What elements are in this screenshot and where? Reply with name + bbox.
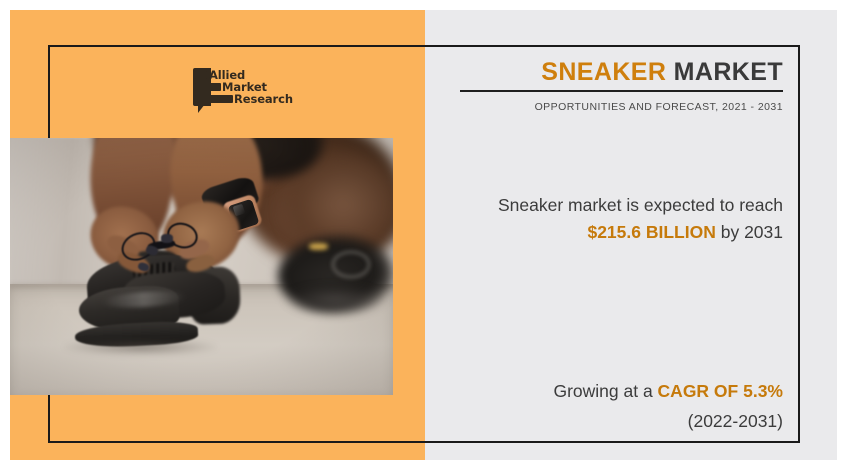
cagr-prefix: Growing at a <box>553 381 657 401</box>
title-divider <box>460 90 783 92</box>
title-highlight: SNEAKER <box>541 58 666 86</box>
logo-bar-3 <box>195 95 233 103</box>
cagr-value: CAGR OF 5.3% <box>658 381 783 401</box>
title-rest: MARKET <box>666 58 783 86</box>
page-subtitle: OPPORTUNITIES AND FORECAST, 2021 - 2031 <box>460 101 783 113</box>
infographic-canvas: Allied Market Research SNEAKER MARKET OP… <box>0 0 847 470</box>
page-title: SNEAKER MARKET <box>460 58 783 87</box>
market-value: $215.6 BILLION <box>587 222 715 242</box>
logo-bar-2 <box>195 83 221 91</box>
logo-line-research: Research <box>234 94 293 106</box>
market-value-statement: Sneaker market is expected to reach$215.… <box>420 192 783 246</box>
photo-vignette <box>10 138 393 395</box>
cagr-statement: Growing at a CAGR OF 5.3%(2022-2031) <box>420 376 783 436</box>
cagr-period: (2022-2031) <box>688 411 783 431</box>
logo-bar-1 <box>195 71 207 79</box>
statement-suffix: by 2031 <box>716 222 783 242</box>
allied-market-research-logo: Allied Market Research <box>193 68 273 118</box>
statement-line-1: Sneaker market is expected to reach <box>498 195 783 215</box>
logo-bubble-tail-icon <box>198 104 205 113</box>
sneaker-photo <box>10 138 393 395</box>
